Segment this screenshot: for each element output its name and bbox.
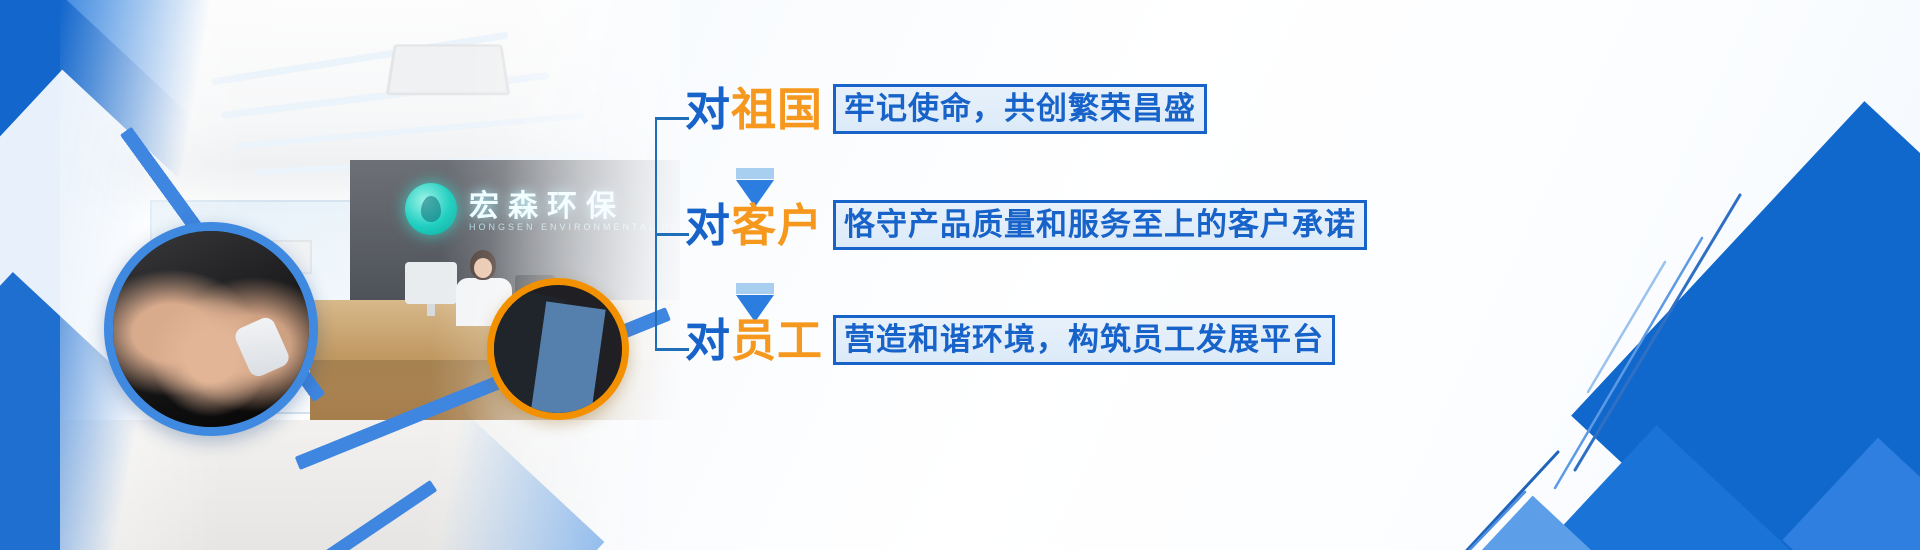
handshake-image bbox=[113, 231, 309, 427]
values-list: 对祖国 牢记使命，共创繁荣昌盛 对客户 恪守产品质量和服务至上的客户承诺 对员工… bbox=[645, 0, 1845, 550]
heading-prefix: 对 bbox=[685, 315, 731, 366]
company-values-banner: 宏森环保 HONGSEN ENVIRONMENTAL PROTECTION bbox=[0, 0, 1920, 550]
bracket-tick-1 bbox=[655, 117, 689, 120]
value-heading-country: 对祖国 bbox=[685, 87, 823, 132]
handshake-circle-photo bbox=[104, 222, 318, 436]
value-tag-customer: 恪守产品质量和服务至上的客户承诺 bbox=[833, 200, 1367, 250]
heading-prefix: 对 bbox=[685, 84, 731, 135]
value-tag-country: 牢记使命，共创繁荣昌盛 bbox=[833, 84, 1207, 134]
value-heading-employee: 对员工 bbox=[685, 318, 823, 363]
value-heading-customer: 对客户 bbox=[685, 203, 823, 248]
value-row-country: 对祖国 牢记使命，共创繁荣昌盛 bbox=[685, 84, 1207, 134]
heading-subject: 员工 bbox=[731, 315, 823, 366]
heading-subject: 祖国 bbox=[731, 84, 823, 135]
value-row-customer: 对客户 恪守产品质量和服务至上的客户承诺 bbox=[685, 200, 1367, 250]
value-row-employee: 对员工 营造和谐环境，构筑员工发展平台 bbox=[685, 315, 1335, 365]
applause-circle-photo bbox=[487, 278, 629, 420]
bracket-tick-3 bbox=[655, 348, 689, 351]
applause-image bbox=[494, 285, 622, 413]
arrow-top-bar bbox=[736, 168, 774, 179]
arrow-top-bar bbox=[736, 283, 774, 294]
heading-prefix: 对 bbox=[685, 200, 731, 251]
heading-subject: 客户 bbox=[731, 200, 823, 251]
value-tag-employee: 营造和谐环境，构筑员工发展平台 bbox=[833, 315, 1335, 365]
bracket-tick-2 bbox=[655, 233, 689, 236]
